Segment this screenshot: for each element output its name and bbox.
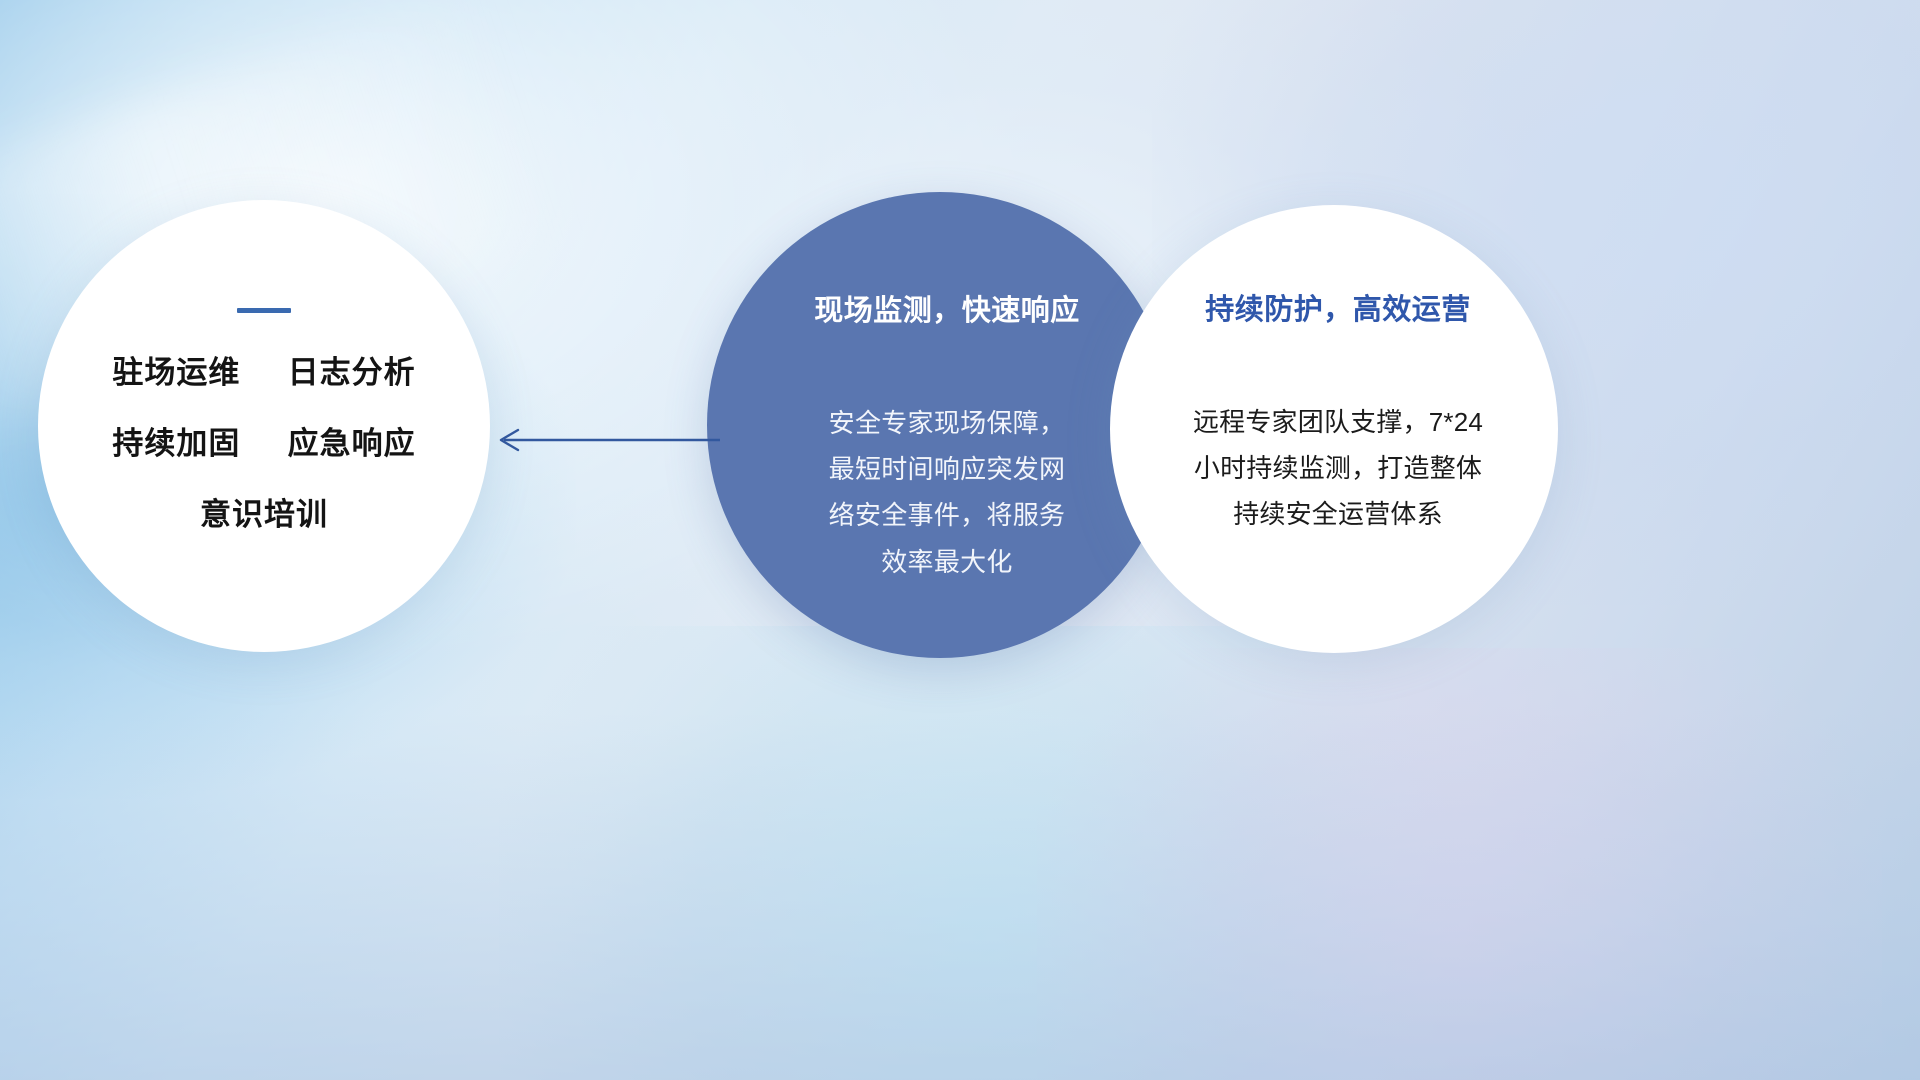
- left-circle-line: 持续加固 应急响应: [72, 428, 456, 459]
- left-circle-line: 意识培训: [72, 499, 456, 530]
- left-circle-node: 驻场运维 日志分析 持续加固 应急响应 意识培训: [38, 200, 490, 652]
- left-circle-tag: 应急响应: [288, 426, 416, 461]
- right-circle-body: 远程专家团队支撑，7*24 小时持续监测，打造整体 持续安全运营体系: [1144, 399, 1532, 538]
- left-circle-tag: 意识培训: [200, 497, 328, 532]
- left-circle-tag: 驻场运维: [112, 355, 240, 390]
- flow-arrow-icon: [492, 418, 722, 462]
- right-body-line: 小时持续监测，打造整体: [1144, 445, 1532, 491]
- right-circle-content: 持续防护，高效运营 远程专家团队支撑，7*24 小时持续监测，打造整体 持续安全…: [1144, 295, 1532, 538]
- middle-circle-body: 安全专家现场保障， 最短时间响应突发网 络安全事件，将服务 效率最大化: [755, 400, 1139, 585]
- right-circle-node: 持续防护，高效运营 远程专家团队支撑，7*24 小时持续监测，打造整体 持续安全…: [1110, 205, 1558, 653]
- left-circle-tag: 持续加固: [112, 426, 240, 461]
- left-circle-content: 驻场运维 日志分析 持续加固 应急响应 意识培训: [38, 308, 490, 530]
- middle-circle-node: 现场监测，快速响应 安全专家现场保障， 最短时间响应突发网 络安全事件，将服务 …: [707, 192, 1173, 658]
- middle-body-line: 效率最大化: [755, 539, 1139, 585]
- right-circle-title: 持续防护，高效运营: [1144, 295, 1532, 327]
- left-circle-line: 驻场运维 日志分析: [72, 357, 456, 388]
- slide-canvas: 现场监测，快速响应 安全专家现场保障， 最短时间响应突发网 络安全事件，将服务 …: [0, 0, 1920, 1080]
- right-body-line: 远程专家团队支撑，7*24: [1144, 399, 1532, 445]
- middle-circle-title: 现场监测，快速响应: [755, 296, 1139, 328]
- middle-body-line: 络安全事件，将服务: [755, 492, 1139, 538]
- divider-dash-icon: [237, 308, 291, 313]
- middle-circle-content: 现场监测，快速响应 安全专家现场保障， 最短时间响应突发网 络安全事件，将服务 …: [755, 296, 1139, 585]
- left-circle-tag: 日志分析: [288, 355, 416, 390]
- middle-body-line: 安全专家现场保障，: [755, 400, 1139, 446]
- background-bottom-fade: [0, 713, 1920, 1080]
- middle-body-line: 最短时间响应突发网: [755, 446, 1139, 492]
- right-body-line: 持续安全运营体系: [1144, 491, 1532, 537]
